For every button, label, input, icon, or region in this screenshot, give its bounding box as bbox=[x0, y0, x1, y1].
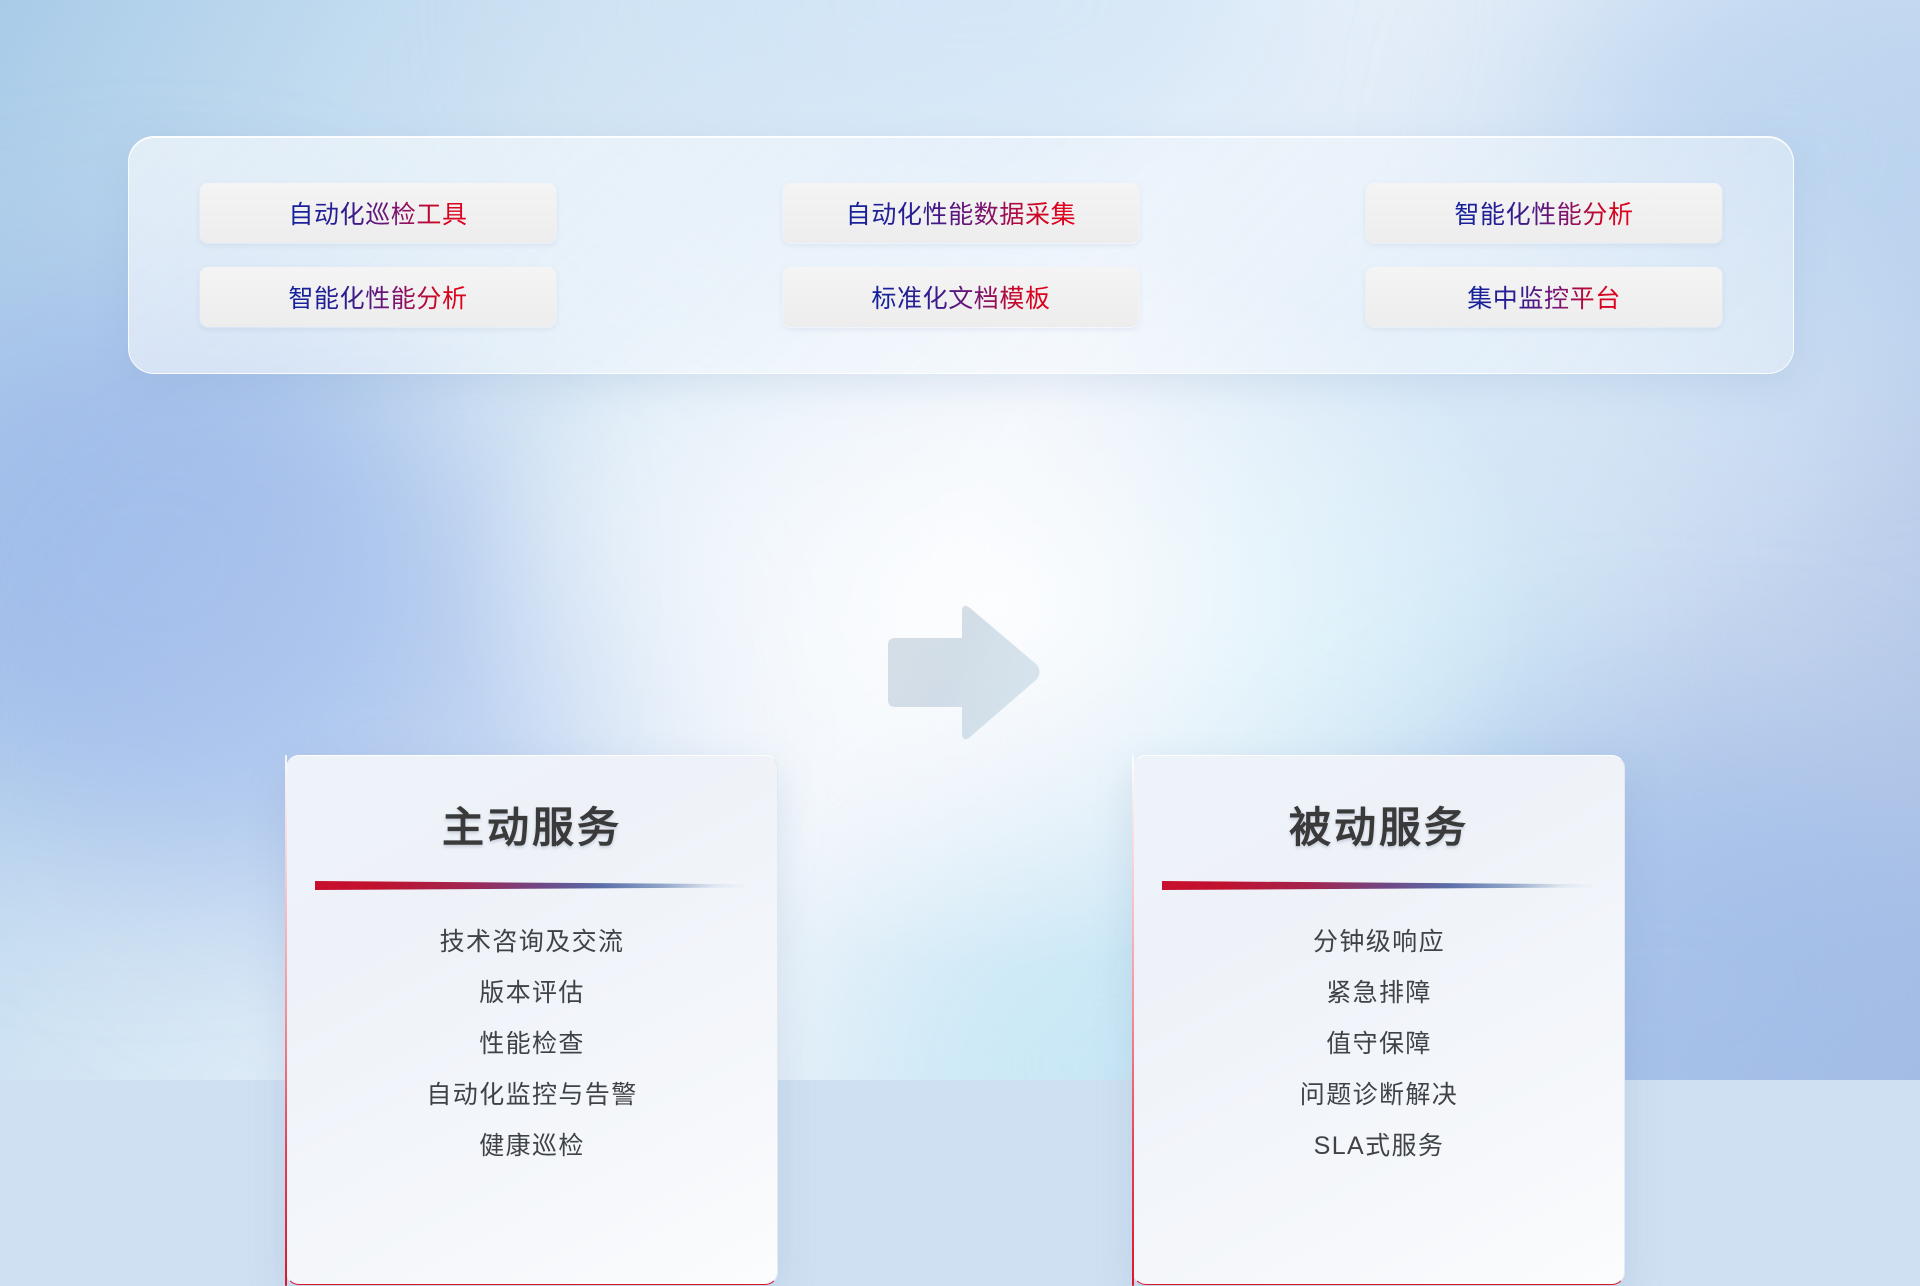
card-divider bbox=[315, 881, 749, 890]
arrow-right-icon bbox=[876, 600, 1042, 745]
capability-pill-label: 智能化性能分析 bbox=[1454, 195, 1633, 231]
list-item: 健康巡检 bbox=[479, 1134, 585, 1159]
capability-pill[interactable]: 自动化巡检工具 bbox=[199, 182, 557, 244]
list-item: SLA式服务 bbox=[1314, 1134, 1445, 1159]
capability-pill[interactable]: 智能化性能分析 bbox=[1365, 182, 1723, 244]
service-card-proactive[interactable]: 主动服务 技术咨询及交流 版本评估 性能检查 自动化监控与告警 健康巡检 bbox=[286, 755, 778, 1285]
list-item: 技术咨询及交流 bbox=[440, 930, 625, 955]
capability-pill[interactable]: 集中监控平台 bbox=[1365, 266, 1723, 328]
card-divider-bar bbox=[1162, 881, 1596, 890]
capability-pill[interactable]: 智能化性能分析 bbox=[199, 266, 557, 328]
list-item: 版本评估 bbox=[479, 981, 585, 1006]
service-card-reactive[interactable]: 被动服务 分钟级响应 紧急排障 值守保障 问题诊断解决 SLA式服务 bbox=[1133, 755, 1625, 1285]
service-list: 技术咨询及交流 版本评估 性能检查 自动化监控与告警 健康巡检 bbox=[287, 930, 777, 1159]
card-title: 被动服务 bbox=[1134, 794, 1624, 855]
capability-row-2: 智能化性能分析 标准化文档模板 集中监控平台 bbox=[199, 266, 1723, 328]
capability-row-1: 自动化巡检工具 自动化性能数据采集 智能化性能分析 bbox=[199, 182, 1723, 244]
list-item: 问题诊断解决 bbox=[1300, 1083, 1458, 1108]
capability-pill-label: 智能化性能分析 bbox=[288, 279, 467, 315]
list-item: 值守保障 bbox=[1326, 1032, 1432, 1057]
capability-pill-label: 自动化性能数据采集 bbox=[846, 195, 1076, 231]
capability-pill[interactable]: 自动化性能数据采集 bbox=[782, 182, 1140, 244]
list-item: 性能检查 bbox=[479, 1032, 585, 1057]
capability-pill[interactable]: 标准化文档模板 bbox=[782, 266, 1140, 328]
list-item: 分钟级响应 bbox=[1313, 930, 1445, 955]
service-list: 分钟级响应 紧急排障 值守保障 问题诊断解决 SLA式服务 bbox=[1134, 930, 1624, 1159]
capability-pill-label: 标准化文档模板 bbox=[871, 279, 1050, 315]
list-item: 紧急排障 bbox=[1326, 981, 1432, 1006]
card-title: 主动服务 bbox=[287, 794, 777, 855]
list-item: 自动化监控与告警 bbox=[426, 1083, 637, 1108]
capability-panel: 自动化巡检工具 自动化性能数据采集 智能化性能分析 智能化性能分析 标准化文档模… bbox=[128, 136, 1794, 374]
capability-pill-label: 集中监控平台 bbox=[1467, 279, 1621, 315]
card-divider-bar bbox=[315, 881, 749, 890]
card-divider bbox=[1162, 881, 1596, 890]
capability-pill-label: 自动化巡检工具 bbox=[288, 195, 467, 231]
